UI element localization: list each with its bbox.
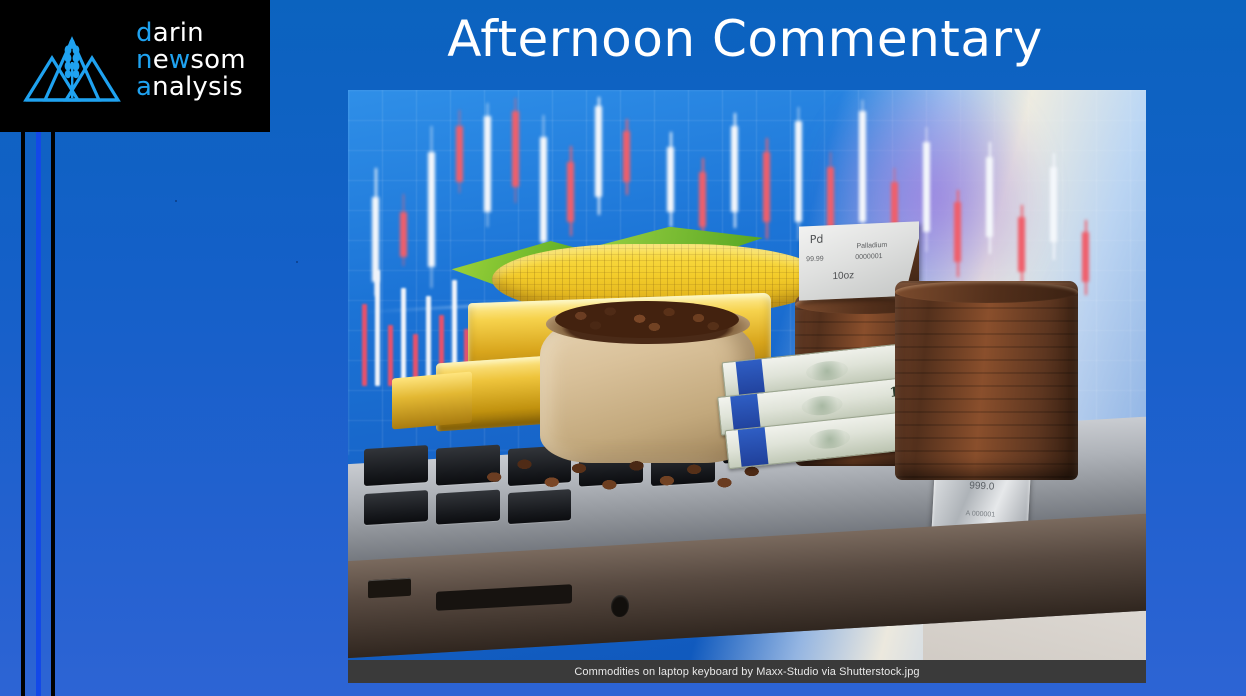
palladium-serial: 0000001 [855,253,882,261]
photo-bill-seal [801,394,844,417]
brand-logo-plate: darin newsom analysis [0,0,270,132]
page-title: Afternoon Commentary [280,10,1210,68]
brand-line-2: newsom [136,47,246,74]
figure-caption-bar: Commodities on laptop keyboard by Maxx-S… [348,660,1146,683]
photo-laptop-usb-port [368,578,411,599]
palladium-purity: 99.99 [806,255,824,263]
photo-oil-barrel-lid [895,281,1079,303]
commodities-photo: Pd Palladium 99.99 0000001 10oz 100 [348,90,1146,660]
brand-line-3-accent: a [136,72,152,102]
slide-root: darin newsom analysis Afternoon Commenta… [0,0,1246,696]
brand-wordmark: darin newsom analysis [136,20,246,101]
brand-line-3: analysis [136,74,246,101]
figure-caption-text: Commodities on laptop keyboard by Maxx-S… [574,666,919,678]
three-mountains-with-wheat-stalk-icon [12,24,132,112]
photo-bill-band [738,428,768,467]
background-speck [296,261,298,263]
brand-line-2-accent: n [136,45,153,75]
palladium-symbol: Pd [810,232,824,246]
photo-coffee-beans-in-sack [555,301,739,338]
photo-gold-bar-small [392,372,472,430]
figure-block: Pd Palladium 99.99 0000001 10oz 100 [348,90,1146,683]
background-speck [175,200,177,202]
palladium-weight: 10oz [832,270,854,282]
silver-serial: A 000001 [932,508,1028,520]
palladium-name: Palladium [856,242,887,250]
silver-purity: 999.0 [933,478,1029,494]
photo-bill-seal [809,428,852,451]
brand-line-1-accent: d [136,18,153,48]
brand-line-2-mid: e [153,45,169,75]
brand-line-2-accent2: w [169,45,190,75]
photo-oil-barrel [895,281,1079,481]
brand-line-2-rest: som [190,45,245,75]
photo-bill-seal [806,359,849,382]
brand-line-1: darin [136,20,246,47]
brand-line-1-rest: arin [153,18,204,48]
brand-line-3-rest: nalysis [152,72,243,102]
